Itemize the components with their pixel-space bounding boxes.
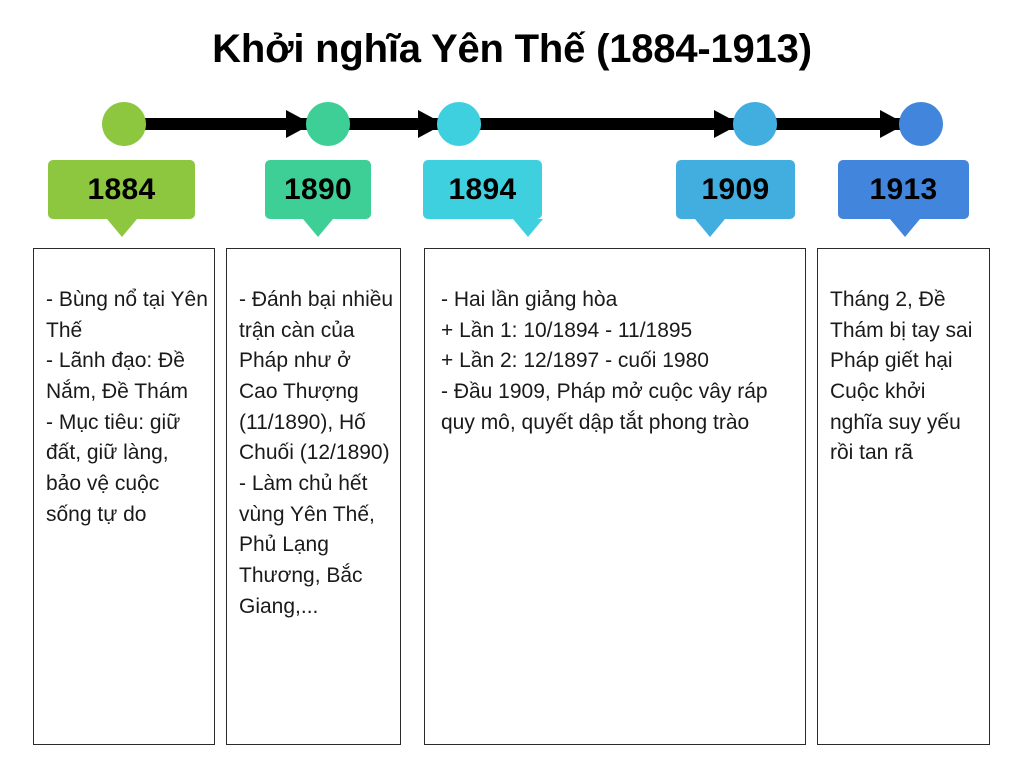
year-badge-1884-label: 1884 xyxy=(88,175,156,205)
year-badge-1890[interactable]: 1890 xyxy=(265,160,371,219)
year-badge-1884[interactable]: 1884 xyxy=(48,160,195,219)
timeline-dot-1890[interactable] xyxy=(306,102,350,146)
badge-tail-1890-icon xyxy=(303,219,333,237)
timeline-dot-1909[interactable] xyxy=(733,102,777,146)
description-box-1913: Tháng 2, Đề Thám bị tay sai Pháp giết hạ… xyxy=(817,248,990,745)
page-title: Khởi nghĩa Yên Thế (1884-1913) xyxy=(0,26,1024,72)
year-badge-1909[interactable]: 1909 xyxy=(676,160,795,219)
year-badge-1913-label: 1913 xyxy=(870,175,938,205)
year-badge-1894-label: 1894 xyxy=(449,175,517,205)
description-box-1890: - Đánh bại nhiều trận càn của Pháp như ở… xyxy=(226,248,401,745)
year-badge-1909-label: 1909 xyxy=(702,175,770,205)
timeline-dot-1913[interactable] xyxy=(899,102,943,146)
timeline-axis xyxy=(0,88,1024,164)
description-box-1884: - Bùng nổ tại Yên Thế - Lãnh đạo: Đề Nắm… xyxy=(33,248,215,745)
badge-tail-1913-icon xyxy=(890,219,920,237)
timeline-infographic: Khởi nghĩa Yên Thế (1884-1913) xyxy=(0,0,1024,768)
description-text-1894-1909: - Hai lần giảng hòa + Lần 1: 10/1894 - 1… xyxy=(441,285,797,438)
year-badge-1894[interactable]: 1894 xyxy=(423,160,542,219)
description-text-1890: - Đánh bại nhiều trận càn của Pháp như ở… xyxy=(239,285,394,622)
year-badge-1913[interactable]: 1913 xyxy=(838,160,969,219)
description-box-1894-1909: - Hai lần giảng hòa + Lần 1: 10/1894 - 1… xyxy=(424,248,806,745)
timeline-connectors xyxy=(140,110,906,138)
year-badge-1890-label: 1890 xyxy=(284,175,352,205)
timeline-dot-1894[interactable] xyxy=(437,102,481,146)
badge-tail-1894-icon xyxy=(513,219,543,237)
badge-tail-1909-icon xyxy=(695,219,725,237)
description-text-1913: Tháng 2, Đề Thám bị tay sai Pháp giết hạ… xyxy=(830,285,983,469)
timeline-dot-1884[interactable] xyxy=(102,102,146,146)
badge-tail-1884-icon xyxy=(107,219,137,237)
description-text-1884: - Bùng nổ tại Yên Thế - Lãnh đạo: Đề Nắm… xyxy=(46,285,208,530)
